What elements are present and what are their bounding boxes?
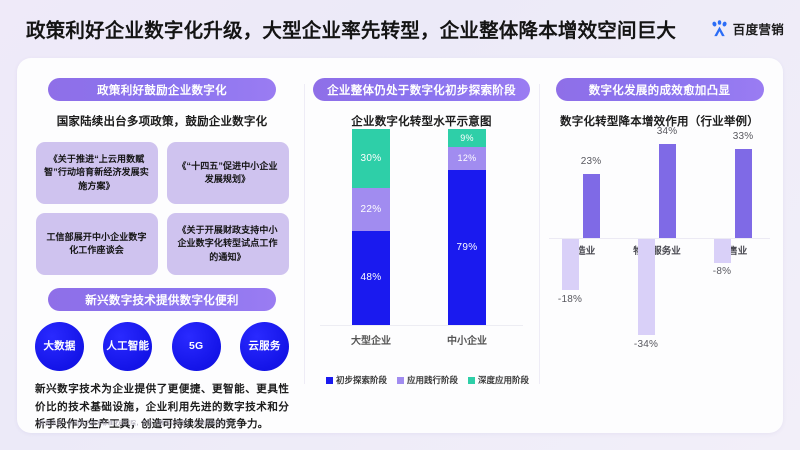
x-axis-label: 中小企业 (432, 332, 502, 347)
bar-revenue (735, 149, 752, 238)
x-axis-label: 制造业 (545, 243, 617, 257)
bar-value-cost: -8% (700, 266, 744, 277)
legend-item-practice: 应用践行阶段 (397, 374, 458, 386)
policy-box: 工信部展开中小企业数字化工作座谈会 (36, 213, 158, 275)
stacked-bar-plot-area: 30% 22% 48% 9% 12% 79% (304, 130, 539, 326)
bar-segment-deep: 30% (352, 129, 390, 188)
legend-label: 应用践行阶段 (407, 374, 458, 386)
left-panel-subtitle: 国家陆续出台多项政策，鼓励企业数字化 (20, 113, 304, 129)
right-panel-pill-header: 数字化发展的成效愈加凸显 (556, 78, 764, 101)
bar-cost (638, 239, 655, 335)
bar-revenue (659, 144, 676, 238)
tech-circle: 云服务 (240, 322, 289, 371)
tech-circle: 5G (172, 322, 221, 371)
x-axis-label: 大型企业 (336, 332, 406, 347)
bar-value-revenue: 34% (645, 126, 689, 137)
x-axis-label: 零售业 (697, 243, 769, 257)
source-footnote: *数据来源：中国电子技术标准化研究院，华为《数字化转型，从战略到执行》。 (37, 419, 236, 427)
legend-item-explore: 初步探索阶段 (326, 374, 387, 386)
bar-value-cost: -34% (624, 339, 668, 350)
bar-segment-explore: 48% (352, 231, 390, 325)
bar-segment-deep: 9% (448, 129, 486, 147)
tech-pill-header: 新兴数字技术提供数字化便利 (48, 288, 276, 311)
x-axis-label: 物流服务业 (621, 243, 693, 257)
bar-group-manufacturing: 23% 制造业 -18% (545, 130, 617, 380)
policy-box: 《“十四五”促进中小企业发展规划》 (167, 142, 289, 204)
policy-box: 《关于开展财政支持中小企业数字化转型试点工作的通知》 (167, 213, 289, 275)
left-panel-pill-header: 政策利好鼓励企业数字化 (48, 78, 276, 101)
baidu-paw-icon (710, 19, 729, 38)
bar-value-cost: -18% (548, 294, 592, 305)
tech-circle-row: 大数据 人工智能 5G 云服务 (35, 322, 289, 371)
right-panel: 数字化发展的成效愈加凸显 数字化转型降本增效作用（行业举例） 23% 制造业 -… (539, 58, 780, 433)
legend-swatch-icon (326, 377, 333, 384)
bar-group-logistics: 34% 物流服务业 -34% (621, 130, 693, 380)
bar-segment-practice: 12% (448, 147, 486, 171)
page-header: 政策利好企业数字化升级，大型企业率先转型，企业整体降本增效空间巨大 百度营销 (0, 0, 800, 56)
mid-chart-legend: 初步探索阶段 应用践行阶段 深度应用阶段 (326, 374, 536, 386)
legend-swatch-icon (468, 377, 475, 384)
brand-logo: 百度营销 (710, 19, 784, 38)
bar-stack-large-enterprise: 30% 22% 48% (352, 129, 390, 325)
logo-text: 百度营销 (733, 19, 784, 38)
mid-panel: 企业整体仍处于数字化初步探索阶段 企业数字化转型水平示意图 30% 22% 48… (304, 58, 539, 433)
mid-chart-title: 企业数字化转型水平示意图 (304, 113, 539, 129)
bar-group-retail: 33% 零售业 -8% (697, 130, 769, 380)
bar-segment-practice: 22% (352, 188, 390, 231)
content-card: 政策利好鼓励企业数字化 国家陆续出台多项政策，鼓励企业数字化 《关于推进“上云用… (17, 58, 783, 433)
mid-chart-x-axis: 大型企业 中小企业 (304, 332, 539, 352)
chart-baseline (320, 325, 523, 326)
legend-label: 深度应用阶段 (478, 374, 529, 386)
mid-panel-pill-header: 企业整体仍处于数字化初步探索阶段 (313, 78, 530, 101)
bar-cost (562, 239, 579, 290)
policy-box-grid: 《关于推进“上云用数赋智”行动培育新经济发展实施方案》 《“十四五”促进中小企业… (36, 142, 289, 275)
bar-revenue (583, 174, 600, 238)
policy-box: 《关于推进“上云用数赋智”行动培育新经济发展实施方案》 (36, 142, 158, 204)
bar-value-revenue: 33% (721, 131, 765, 142)
page-title: 政策利好企业数字化升级，大型企业率先转型，企业整体降本增效空间巨大 (26, 14, 676, 43)
tech-circle: 大数据 (35, 322, 84, 371)
legend-swatch-icon (397, 377, 404, 384)
tech-circle: 人工智能 (103, 322, 152, 371)
bar-cost (714, 239, 731, 263)
left-panel: 政策利好鼓励企业数字化 国家陆续出台多项政策，鼓励企业数字化 《关于推进“上云用… (20, 58, 304, 433)
stacked-bar-chart: 30% 22% 48% 9% 12% 79% 大型企业 中小企业 (304, 130, 539, 370)
bar-segment-explore: 79% (448, 170, 486, 325)
diverging-bar-chart: 23% 制造业 -18% 34% 物流服务业 -34% 33% (539, 130, 780, 400)
legend-label: 初步探索阶段 (336, 374, 387, 386)
diverging-bar-plot-area: 23% 制造业 -18% 34% 物流服务业 -34% 33% (539, 130, 780, 380)
legend-item-deep: 深度应用阶段 (468, 374, 529, 386)
bar-stack-sme: 9% 12% 79% (448, 129, 486, 325)
bar-value-revenue: 23% (569, 156, 613, 167)
